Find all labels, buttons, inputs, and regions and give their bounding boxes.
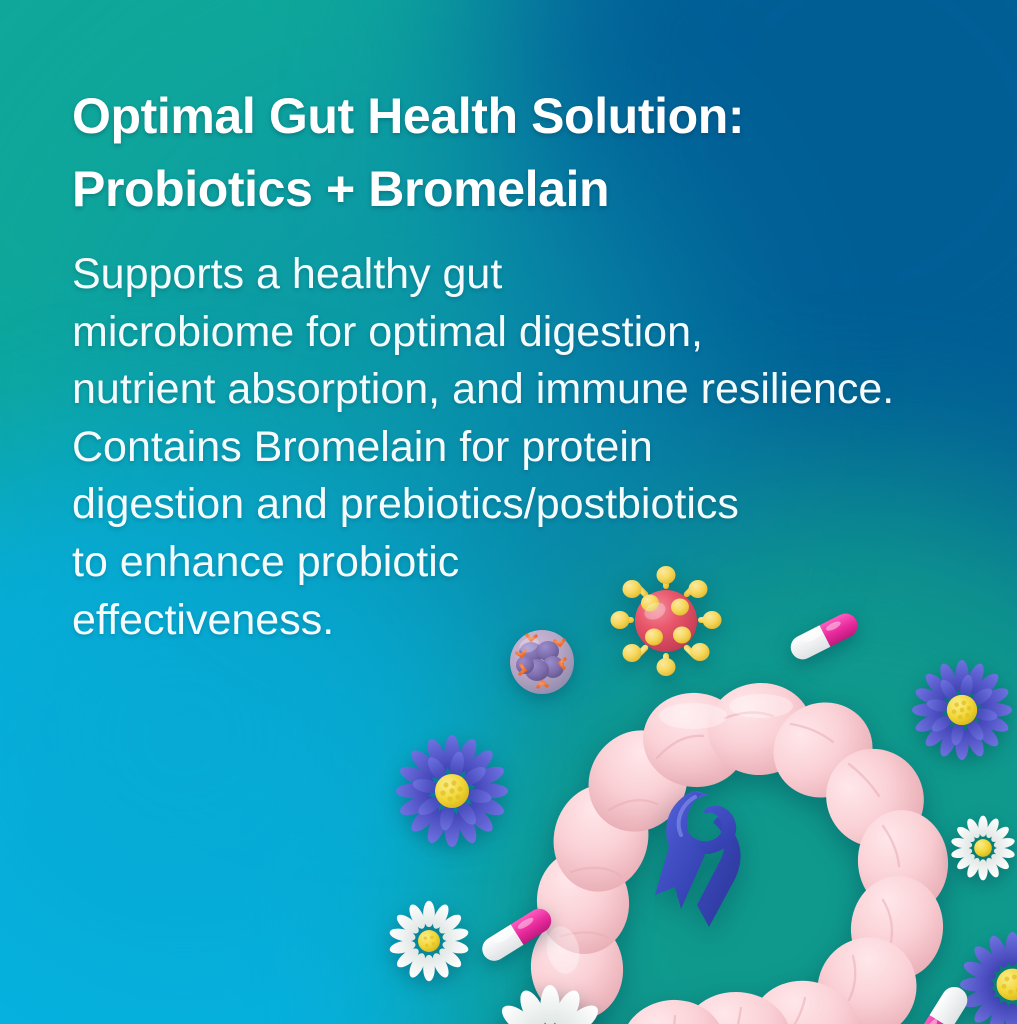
awareness-ribbon <box>635 775 785 940</box>
flower-center <box>418 930 440 952</box>
body-line-7: effectiveness. <box>72 592 972 650</box>
flower-white-left <box>388 900 470 982</box>
body-copy: Supports a healthy gut microbiome for op… <box>72 246 972 649</box>
flower-blue-left <box>396 735 508 847</box>
flower-blue-right <box>912 660 1012 760</box>
page-title: Optimal Gut Health Solution: Probiotics … <box>72 80 972 226</box>
capsule-pill-bottom <box>905 990 981 1024</box>
text-block: Optimal Gut Health Solution: Probiotics … <box>72 80 972 649</box>
capsule-pill-lower-left <box>480 908 556 960</box>
headline-line-2: Probiotics + Bromelain <box>72 153 972 226</box>
body-line-6: to enhance probiotic <box>72 534 972 592</box>
flower-center <box>974 839 992 857</box>
flower-white-right <box>950 815 1016 881</box>
poster-canvas: Optimal Gut Health Solution: Probiotics … <box>0 0 1017 1024</box>
body-line-5: digestion and prebiotics/postbiotics <box>72 476 972 534</box>
body-line-2: microbiome for optimal digestion, <box>72 304 972 362</box>
body-line-3: nutrient absorption, and immune resilien… <box>72 361 972 419</box>
body-line-4: Contains Bromelain for protein <box>72 419 972 477</box>
body-line-1: Supports a healthy gut <box>72 246 972 304</box>
headline-line-1: Optimal Gut Health Solution: <box>72 80 972 153</box>
flower-center <box>997 969 1017 1001</box>
petals <box>489 985 610 1024</box>
ribbon-tail-left <box>655 791 705 909</box>
flower-white-bottom <box>490 985 610 1024</box>
